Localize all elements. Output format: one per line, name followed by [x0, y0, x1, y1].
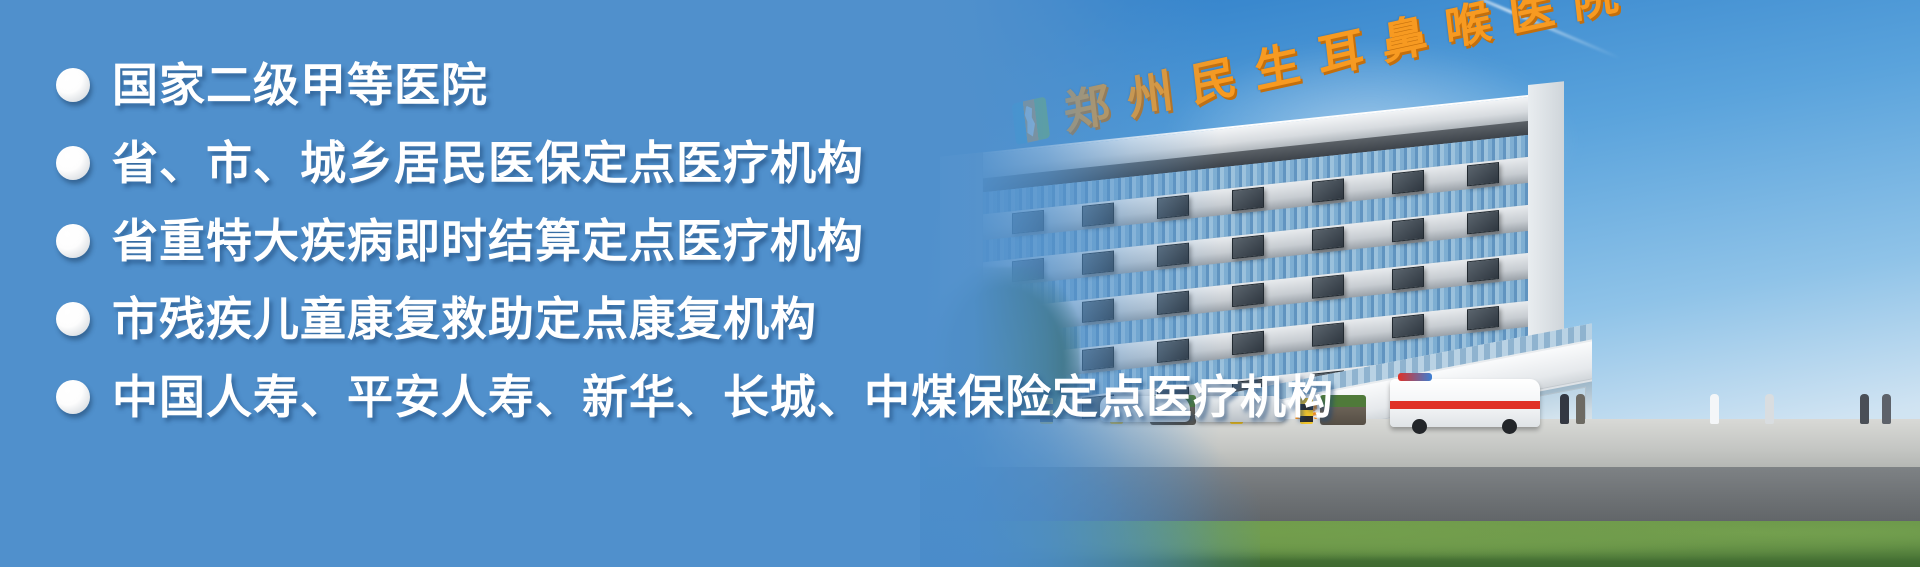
bullet-dot-icon	[56, 68, 90, 102]
credential-text: 国家二级甲等医院	[112, 62, 488, 108]
bullet-dot-icon	[56, 380, 90, 414]
list-item: 中国人寿、平安人寿、新华、长城、中煤保险定点医疗机构	[56, 358, 1300, 436]
credential-text: 省重特大疾病即时结算定点医疗机构	[112, 218, 864, 264]
pedestrian	[1560, 394, 1569, 424]
list-item: 省、市、城乡居民医保定点医疗机构	[56, 124, 1300, 202]
list-item: 国家二级甲等医院	[56, 46, 1300, 124]
ambulance	[1390, 379, 1540, 427]
bullet-dot-icon	[56, 146, 90, 180]
pedestrian	[1860, 394, 1869, 424]
credentials-list: 国家二级甲等医院 省、市、城乡居民医保定点医疗机构 省重特大疾病即时结算定点医疗…	[0, 0, 1300, 567]
pedestrian-wheelchair	[1765, 394, 1774, 424]
rooftop-sign-char: 耳	[1315, 25, 1368, 81]
credential-text: 中国人寿、平安人寿、新华、长城、中煤保险定点医疗机构	[112, 374, 1334, 420]
pedestrian	[1882, 394, 1891, 424]
credential-text: 省、市、城乡居民医保定点医疗机构	[112, 140, 864, 186]
bullet-dot-icon	[56, 302, 90, 336]
pedestrian-staff	[1710, 394, 1719, 424]
list-item: 省重特大疾病即时结算定点医疗机构	[56, 202, 1300, 280]
rooftop-sign-char: 医	[1506, 0, 1559, 39]
list-item: 市残疾儿童康复救助定点康复机构	[56, 280, 1300, 358]
pedestrian	[1576, 394, 1585, 424]
hospital-promo-banner: 郑 州 民 生 耳 鼻 喉 医 院 郑 州 民 生 耳	[0, 0, 1920, 567]
bullet-dot-icon	[56, 224, 90, 258]
credential-text: 市残疾儿童康复救助定点康复机构	[112, 296, 817, 342]
rooftop-sign-char: 喉	[1443, 0, 1496, 53]
rooftop-sign-char: 鼻	[1379, 11, 1432, 67]
